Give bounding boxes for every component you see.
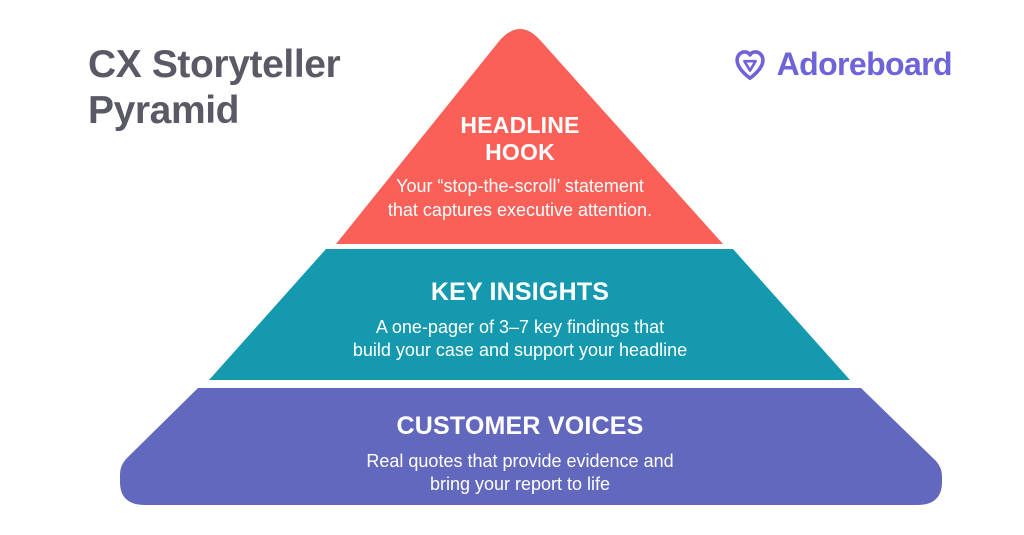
pyramid-tier-customer-voices <box>120 388 942 505</box>
pyramid-tier-key-insights <box>209 249 850 380</box>
pyramid-tier-headline-hook <box>336 29 723 244</box>
pyramid-diagram <box>0 0 1024 535</box>
infographic-canvas: CX Storyteller Pyramid Adoreboard HEADLI… <box>0 0 1024 535</box>
